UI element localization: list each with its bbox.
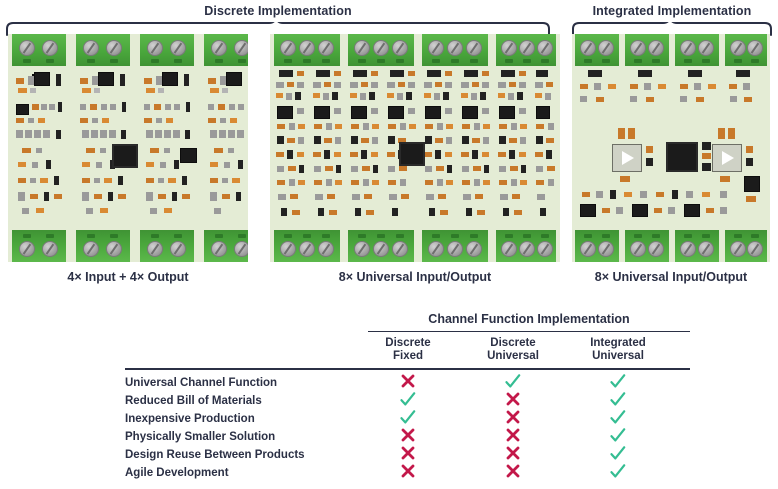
- ic-chip: [226, 72, 242, 86]
- cross-icon: [388, 464, 428, 478]
- terminal-row-top: [572, 34, 770, 66]
- secondary-chip: [180, 148, 197, 163]
- screw-icon: [318, 40, 334, 56]
- screw-icon: [519, 241, 535, 257]
- screw-icon: [106, 241, 122, 257]
- channel-circuit: [421, 66, 456, 230]
- terminal-pad: [684, 59, 692, 63]
- screw-icon: [630, 241, 646, 257]
- screw-icon: [447, 40, 463, 56]
- terminal-pad: [238, 234, 246, 238]
- ic-chip: [632, 204, 648, 217]
- row-label: Physically Smaller Solution: [125, 430, 275, 444]
- cross-icon: [493, 410, 533, 424]
- terminal-block[interactable]: [675, 230, 719, 262]
- terminal-pad: [470, 234, 478, 238]
- screw-icon: [280, 40, 296, 56]
- terminal-pad: [215, 234, 223, 238]
- row-label: Reduced Bill of Materials: [125, 394, 262, 408]
- screw-icon: [648, 241, 664, 257]
- terminal-pad: [602, 234, 610, 238]
- screw-icon: [466, 40, 482, 56]
- cross-icon: [493, 392, 533, 406]
- screw-icon: [211, 40, 227, 56]
- row-label: Inexpensive Production: [125, 412, 255, 426]
- channel-circuit: [347, 66, 382, 230]
- ic-chip: [499, 106, 515, 119]
- terminal-block[interactable]: [496, 34, 556, 66]
- terminal-block[interactable]: [204, 34, 248, 66]
- screw-icon: [392, 40, 408, 56]
- board-caption-discrete-universal: 8× Universal Input/Output: [270, 270, 560, 284]
- terminal-pad: [432, 59, 440, 63]
- cross-icon: [493, 464, 533, 478]
- terminal-pad: [523, 59, 531, 63]
- terminal-pad: [734, 59, 742, 63]
- terminal-pad: [87, 59, 95, 63]
- terminal-pad: [541, 59, 549, 63]
- terminal-block[interactable]: [575, 34, 619, 66]
- column-header-line1: Discrete: [385, 337, 430, 349]
- terminal-block[interactable]: [575, 230, 619, 262]
- terminal-pad: [702, 234, 710, 238]
- terminal-pad: [174, 59, 182, 63]
- channel-circuit: [204, 66, 248, 230]
- check-icon: [598, 374, 638, 389]
- terminal-row-top: [270, 34, 560, 66]
- check-icon: [598, 392, 638, 407]
- terminal-pad: [584, 234, 592, 238]
- amplifier-ic: [612, 144, 642, 172]
- terminal-block[interactable]: [76, 34, 130, 66]
- terminal-pad: [684, 234, 692, 238]
- terminal-pad: [505, 59, 513, 63]
- check-icon: [598, 464, 638, 479]
- column-header-line2: Universal: [487, 350, 539, 362]
- screw-icon: [373, 241, 389, 257]
- terminal-block[interactable]: [675, 34, 719, 66]
- screw-icon: [392, 241, 408, 257]
- screw-icon: [648, 40, 664, 56]
- cross-icon: [493, 428, 533, 442]
- screw-icon: [598, 241, 614, 257]
- row-label: Universal Channel Function: [125, 376, 277, 390]
- terminal-pad: [174, 234, 182, 238]
- screw-icon: [428, 241, 444, 257]
- terminal-block[interactable]: [274, 34, 340, 66]
- cross-icon: [388, 428, 428, 442]
- screw-icon: [170, 40, 186, 56]
- check-icon: [598, 410, 638, 425]
- ic-chip: [388, 106, 404, 119]
- terminal-pad: [303, 234, 311, 238]
- screw-icon: [598, 40, 614, 56]
- screw-icon: [83, 241, 99, 257]
- screw-icon: [299, 241, 315, 257]
- ic-chip: [314, 106, 330, 119]
- screw-icon: [580, 40, 596, 56]
- screw-icon: [147, 40, 163, 56]
- terminal-row-bottom: [572, 230, 770, 262]
- screw-icon: [537, 241, 553, 257]
- screw-icon: [83, 40, 99, 56]
- screw-icon: [354, 40, 370, 56]
- screw-icon: [106, 40, 122, 56]
- amplifier-triangle-icon: [722, 151, 734, 165]
- terminal-pad: [110, 59, 118, 63]
- terminal-pad: [702, 59, 710, 63]
- table-super-rule: [368, 331, 690, 332]
- terminal-pad: [322, 59, 330, 63]
- terminal-block[interactable]: [204, 230, 248, 262]
- terminal-pad: [652, 234, 660, 238]
- column-header-line2: Universal: [592, 350, 644, 362]
- ic-chip: [277, 106, 293, 119]
- terminal-block[interactable]: [274, 230, 340, 262]
- cross-icon: [493, 446, 533, 460]
- terminal-pad: [110, 234, 118, 238]
- column-header-line1: Integrated: [590, 337, 646, 349]
- screw-icon: [280, 241, 296, 257]
- screw-icon: [698, 40, 714, 56]
- screw-icon: [234, 40, 248, 56]
- check-icon: [598, 428, 638, 443]
- terminal-block[interactable]: [725, 230, 767, 262]
- terminal-pad: [151, 234, 159, 238]
- board-discrete-universal: [270, 34, 560, 262]
- terminal-pad: [396, 234, 404, 238]
- terminal-pad: [238, 59, 246, 63]
- board-caption-discrete-fixed: 4× Input + 4× Output: [8, 270, 248, 284]
- terminal-pad: [432, 234, 440, 238]
- ic-chip: [98, 72, 114, 86]
- screw-icon: [730, 40, 746, 56]
- board-caption-integrated-universal: 8× Universal Input/Output: [572, 270, 770, 284]
- screw-icon: [428, 40, 444, 56]
- screw-icon: [537, 40, 553, 56]
- amplifier-ic: [712, 144, 742, 172]
- screw-icon: [698, 241, 714, 257]
- column-header-line1: Discrete: [490, 337, 535, 349]
- terminal-pad: [602, 59, 610, 63]
- terminal-pad: [87, 234, 95, 238]
- group-label-discrete: Discrete Implementation: [138, 4, 418, 18]
- column-header-line2: Fixed: [393, 350, 423, 362]
- terminal-pad: [652, 59, 660, 63]
- terminal-pad: [377, 234, 385, 238]
- screw-icon: [147, 241, 163, 257]
- terminal-pad: [470, 59, 478, 63]
- terminal-pad: [451, 59, 459, 63]
- channel-circuit: [310, 66, 345, 230]
- terminal-block[interactable]: [725, 34, 767, 66]
- screw-icon: [170, 241, 186, 257]
- figure-root: Discrete Implementation Integrated Imple…: [0, 0, 778, 489]
- column-header-discrete-universal: Discrete Universal: [465, 337, 561, 363]
- terminal-pad: [634, 234, 642, 238]
- table-header-rule: [125, 368, 690, 370]
- terminal-pad: [584, 59, 592, 63]
- ic-chip: [684, 204, 700, 217]
- cross-icon: [388, 446, 428, 460]
- group-label-integrated: Integrated Implementation: [570, 4, 774, 18]
- terminal-pad: [734, 234, 742, 238]
- ic-chip: [16, 104, 29, 115]
- screw-icon: [42, 241, 58, 257]
- terminal-pad: [23, 59, 31, 63]
- screw-icon: [519, 40, 535, 56]
- column-header-discrete-fixed: Discrete Fixed: [360, 337, 456, 363]
- terminal-pad: [303, 59, 311, 63]
- screw-icon: [211, 241, 227, 257]
- channel-circuit: [532, 66, 560, 230]
- screw-icon: [501, 40, 517, 56]
- screw-icon: [19, 241, 35, 257]
- ic-chip: [425, 106, 441, 119]
- table-super-header: Channel Function Implementation: [368, 312, 690, 326]
- screw-icon: [447, 241, 463, 257]
- screw-icon: [466, 241, 482, 257]
- terminal-pad: [523, 234, 531, 238]
- screw-icon: [730, 241, 746, 257]
- screw-icon: [680, 241, 696, 257]
- terminal-pad: [322, 234, 330, 238]
- terminal-pad: [505, 234, 513, 238]
- screw-icon: [354, 241, 370, 257]
- screw-icon: [501, 241, 517, 257]
- screw-icon: [234, 241, 248, 257]
- terminal-pad: [46, 234, 54, 238]
- channel-circuit: [12, 66, 72, 230]
- screw-icon: [747, 40, 763, 56]
- check-icon: [493, 374, 533, 389]
- screw-icon: [630, 40, 646, 56]
- terminal-block[interactable]: [140, 34, 194, 66]
- ic-chip: [162, 72, 178, 86]
- terminal-pad: [396, 59, 404, 63]
- screw-icon: [373, 40, 389, 56]
- circuit-area: [8, 66, 248, 230]
- amplifier-triangle-icon: [622, 151, 634, 165]
- ic-chip: [536, 106, 550, 119]
- screw-icon: [318, 241, 334, 257]
- terminal-pad: [751, 59, 759, 63]
- channel-circuit: [273, 66, 308, 230]
- terminal-row-bottom: [8, 230, 248, 262]
- main-qfp-chip: [399, 142, 425, 166]
- terminal-block[interactable]: [422, 34, 488, 66]
- terminal-pad: [634, 59, 642, 63]
- terminal-pad: [215, 59, 223, 63]
- check-icon: [598, 446, 638, 461]
- cross-icon: [388, 374, 428, 388]
- screw-icon: [747, 241, 763, 257]
- terminal-block[interactable]: [12, 34, 66, 66]
- screw-icon: [19, 40, 35, 56]
- terminal-block[interactable]: [422, 230, 488, 262]
- terminal-pad: [451, 234, 459, 238]
- row-label: Design Reuse Between Products: [125, 448, 305, 462]
- terminal-block[interactable]: [348, 34, 414, 66]
- main-qfp-chip: [666, 142, 698, 172]
- screw-icon: [299, 40, 315, 56]
- ic-chip: [462, 106, 478, 119]
- circuit-area: [270, 66, 560, 230]
- terminal-block[interactable]: [76, 230, 130, 262]
- terminal-pad: [358, 234, 366, 238]
- terminal-block[interactable]: [348, 230, 414, 262]
- terminal-pad: [23, 234, 31, 238]
- terminal-pad: [46, 59, 54, 63]
- channel-circuit: [495, 66, 530, 230]
- terminal-pad: [751, 234, 759, 238]
- circuit-area: [572, 66, 770, 230]
- main-qfp-chip: [112, 144, 138, 168]
- column-header-integrated-universal: Integrated Universal: [570, 337, 666, 363]
- terminal-block[interactable]: [12, 230, 66, 262]
- terminal-block[interactable]: [140, 230, 194, 262]
- screw-icon: [42, 40, 58, 56]
- terminal-row-top: [8, 34, 248, 66]
- terminal-row-bottom: [270, 230, 560, 262]
- screw-icon: [680, 40, 696, 56]
- board-discrete-fixed: [8, 34, 248, 262]
- terminal-pad: [358, 59, 366, 63]
- terminal-pad: [377, 59, 385, 63]
- terminal-block[interactable]: [496, 230, 556, 262]
- screw-icon: [580, 241, 596, 257]
- terminal-pad: [284, 59, 292, 63]
- board-integrated-universal: [572, 34, 770, 262]
- row-label: Agile Development: [125, 466, 229, 480]
- check-icon: [388, 392, 428, 407]
- terminal-pad: [541, 234, 549, 238]
- ic-chip: [34, 72, 50, 86]
- check-icon: [388, 410, 428, 425]
- terminal-block[interactable]: [625, 34, 669, 66]
- ic-chip: [351, 106, 367, 119]
- ic-chip: [580, 204, 596, 217]
- terminal-block[interactable]: [625, 230, 669, 262]
- terminal-pad: [284, 234, 292, 238]
- terminal-pad: [151, 59, 159, 63]
- channel-circuit: [458, 66, 493, 230]
